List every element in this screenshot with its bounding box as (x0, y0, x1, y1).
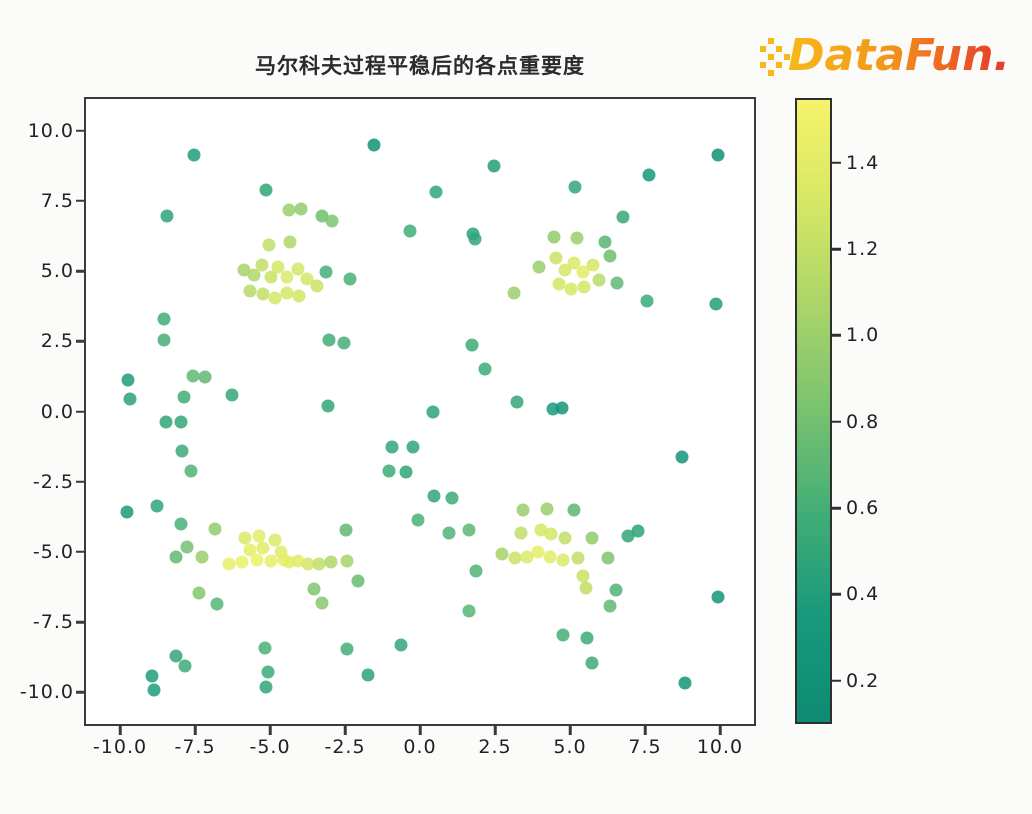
scatter-point (407, 441, 420, 454)
scatter-point (611, 276, 624, 289)
scatter-point (465, 338, 478, 351)
scatter-point (269, 292, 282, 305)
colorbar-tick-label: 1.4 (846, 152, 879, 174)
scatter-point (146, 670, 159, 683)
scatter-point (581, 632, 594, 645)
scatter-point (341, 554, 354, 567)
y-tick-label: -2.5 (33, 471, 74, 493)
scatter-point (263, 239, 276, 252)
colorbar-tick-label: 0.2 (846, 670, 879, 692)
y-tick-mark (76, 129, 84, 132)
scatter-point (150, 500, 163, 513)
scatter-figure: 马尔科夫过程平稳后的各点重要度 -10.0-7.5-5.0-2.50.02.55… (0, 0, 1032, 814)
colorbar-tick-label: 0.6 (846, 497, 879, 519)
colorbar (795, 98, 832, 724)
scatter-point (147, 684, 160, 697)
scatter-point (569, 181, 582, 194)
scatter-point (368, 139, 381, 152)
colorbar-tick-mark (832, 162, 841, 165)
x-tick-mark (119, 726, 122, 735)
plot-frame (84, 97, 756, 726)
scatter-point (311, 279, 324, 292)
y-tick-mark (76, 480, 84, 483)
x-tick-label: -7.5 (174, 736, 215, 758)
scatter-point (578, 281, 591, 294)
y-tick-label: -5.0 (33, 541, 74, 563)
scatter-point (462, 524, 475, 537)
scatter-point (198, 370, 211, 383)
scatter-point (312, 557, 325, 570)
y-tick-label: 7.5 (41, 190, 74, 212)
scatter-point (617, 210, 630, 223)
scatter-point (282, 203, 295, 216)
scatter-point (225, 389, 238, 402)
scatter-point (308, 583, 321, 596)
y-tick-label: 0.0 (41, 401, 74, 423)
scatter-point (585, 657, 598, 670)
y-tick-mark (76, 200, 84, 203)
scatter-point (404, 224, 417, 237)
x-tick-label: 2.5 (478, 736, 511, 758)
scatter-point (488, 160, 501, 173)
scatter-point (564, 282, 577, 295)
scatter-point (585, 532, 598, 545)
scatter-point (122, 373, 135, 386)
scatter-point (278, 553, 291, 566)
scatter-point (180, 540, 193, 553)
colorbar-tick-mark (832, 248, 841, 251)
colorbar-gradient (797, 100, 830, 722)
x-tick-label: -2.5 (324, 736, 365, 758)
scatter-point (428, 490, 441, 503)
scatter-point (236, 556, 249, 569)
scatter-point (159, 415, 172, 428)
scatter-point (315, 597, 328, 610)
scatter-point (572, 552, 585, 565)
scatter-point (293, 289, 306, 302)
plot-canvas (86, 99, 754, 724)
scatter-point (555, 401, 568, 414)
scatter-point (260, 681, 273, 694)
scatter-point (179, 660, 192, 673)
scatter-point (261, 665, 274, 678)
scatter-point (185, 465, 198, 478)
scatter-point (177, 390, 190, 403)
scatter-point (516, 504, 529, 517)
x-tick-mark (194, 726, 197, 735)
x-tick-mark (494, 726, 497, 735)
scatter-point (543, 550, 556, 563)
scatter-point (258, 641, 271, 654)
scatter-point (222, 557, 235, 570)
scatter-point (549, 251, 562, 264)
x-tick-label: -5.0 (249, 736, 290, 758)
x-tick-label: 0.0 (403, 736, 436, 758)
colorbar-tick-label: 0.4 (846, 583, 879, 605)
scatter-point (323, 334, 336, 347)
x-axis-tick-labels: -10.0-7.5-5.0-2.50.02.55.07.510.0 (84, 736, 756, 770)
scatter-point (711, 149, 724, 162)
scatter-point (195, 550, 208, 563)
scatter-point (284, 236, 297, 249)
scatter-point (399, 466, 412, 479)
scatter-point (479, 362, 492, 375)
scatter-point (710, 297, 723, 310)
scatter-point (174, 518, 187, 531)
scatter-point (548, 230, 561, 243)
scatter-point (468, 233, 481, 246)
y-tick-label: -10.0 (20, 681, 74, 703)
y-tick-label: 10.0 (28, 120, 74, 142)
scatter-point (602, 552, 615, 565)
scatter-point (339, 524, 352, 537)
scatter-point (443, 526, 456, 539)
scatter-point (642, 168, 655, 181)
scatter-point (599, 236, 612, 249)
scatter-point (609, 584, 622, 597)
scatter-point (426, 406, 439, 419)
x-tick-mark (719, 726, 722, 735)
scatter-point (174, 415, 187, 428)
scatter-point (429, 185, 442, 198)
y-axis-tick-labels: -10.0-7.5-5.0-2.50.02.55.07.510.0 (0, 97, 74, 726)
x-tick-mark (419, 726, 422, 735)
scatter-point (462, 605, 475, 618)
scatter-point (326, 215, 339, 228)
scatter-point (386, 441, 399, 454)
scatter-point (515, 526, 528, 539)
y-tick-label: -7.5 (33, 611, 74, 633)
scatter-point (161, 209, 174, 222)
y-tick-label: 5.0 (41, 260, 74, 282)
scatter-point (188, 149, 201, 162)
y-tick-mark (76, 551, 84, 554)
scatter-point (294, 202, 307, 215)
scatter-point (603, 599, 616, 612)
scatter-point (495, 547, 508, 560)
y-tick-mark (76, 621, 84, 624)
scatter-point (395, 639, 408, 652)
scatter-point (579, 581, 592, 594)
scatter-point (540, 502, 553, 515)
x-tick-label: 5.0 (553, 736, 586, 758)
scatter-point (593, 274, 606, 287)
scatter-point (603, 250, 616, 263)
y-tick-mark (76, 691, 84, 694)
colorbar-tick-label: 1.0 (846, 324, 879, 346)
scatter-point (255, 258, 268, 271)
page-title: 马尔科夫过程平稳后的各点重要度 (84, 50, 756, 80)
x-tick-label: -10.0 (93, 736, 147, 758)
scatter-point (545, 528, 558, 541)
y-tick-label: 2.5 (41, 330, 74, 352)
scatter-point (678, 677, 691, 690)
scatter-point (558, 532, 571, 545)
scatter-point (507, 286, 520, 299)
colorbar-tick-label: 0.8 (846, 411, 879, 433)
y-axis-tick-marks (76, 97, 84, 726)
scatter-point (675, 451, 688, 464)
scatter-point (557, 553, 570, 566)
colorbar-tick-group: 0.20.40.60.81.01.21.4 (832, 98, 922, 724)
scatter-point (341, 643, 354, 656)
scatter-point (533, 261, 546, 274)
scatter-point (411, 514, 424, 527)
scatter-point (324, 556, 337, 569)
scatter-point (509, 552, 522, 565)
scatter-point (192, 587, 205, 600)
scatter-point (632, 525, 645, 538)
scatter-point (510, 396, 523, 409)
scatter-point (446, 491, 459, 504)
x-tick-label: 7.5 (628, 736, 661, 758)
scatter-point (170, 550, 183, 563)
scatter-point (252, 529, 265, 542)
scatter-point (344, 272, 357, 285)
scatter-point (123, 393, 136, 406)
colorbar-tick-mark (832, 507, 841, 510)
colorbar-tick-mark (832, 680, 841, 683)
colorbar-tick-label: 1.2 (846, 238, 879, 260)
scatter-point (383, 465, 396, 478)
scatter-point (260, 184, 273, 197)
scatter-point (320, 265, 333, 278)
scatter-point (120, 505, 133, 518)
x-tick-mark (344, 726, 347, 735)
x-tick-label: 10.0 (697, 736, 743, 758)
scatter-point (711, 591, 724, 604)
scatter-point (158, 313, 171, 326)
scatter-point (321, 400, 334, 413)
scatter-point (587, 258, 600, 271)
scatter-point (176, 445, 189, 458)
x-tick-mark (569, 726, 572, 735)
scatter-point (210, 598, 223, 611)
colorbar-tick-mark (832, 593, 841, 596)
y-tick-mark (76, 270, 84, 273)
scatter-point (641, 295, 654, 308)
scatter-point (351, 574, 364, 587)
y-tick-mark (76, 340, 84, 343)
scatter-point (362, 668, 375, 681)
scatter-point (243, 285, 256, 298)
scatter-point (209, 522, 222, 535)
scatter-point (158, 334, 171, 347)
x-axis-tick-marks (84, 726, 756, 735)
scatter-point (557, 629, 570, 642)
scatter-point (470, 564, 483, 577)
x-tick-mark (269, 726, 272, 735)
scatter-point (251, 553, 264, 566)
x-tick-mark (644, 726, 647, 735)
colorbar-tick-mark (832, 334, 841, 337)
scatter-point (264, 554, 277, 567)
colorbar-tick-mark (832, 421, 841, 424)
scatter-point (281, 286, 294, 299)
scatter-point (338, 337, 351, 350)
scatter-point (570, 231, 583, 244)
y-tick-mark (76, 410, 84, 413)
scatter-point (269, 533, 282, 546)
scatter-point (567, 504, 580, 517)
